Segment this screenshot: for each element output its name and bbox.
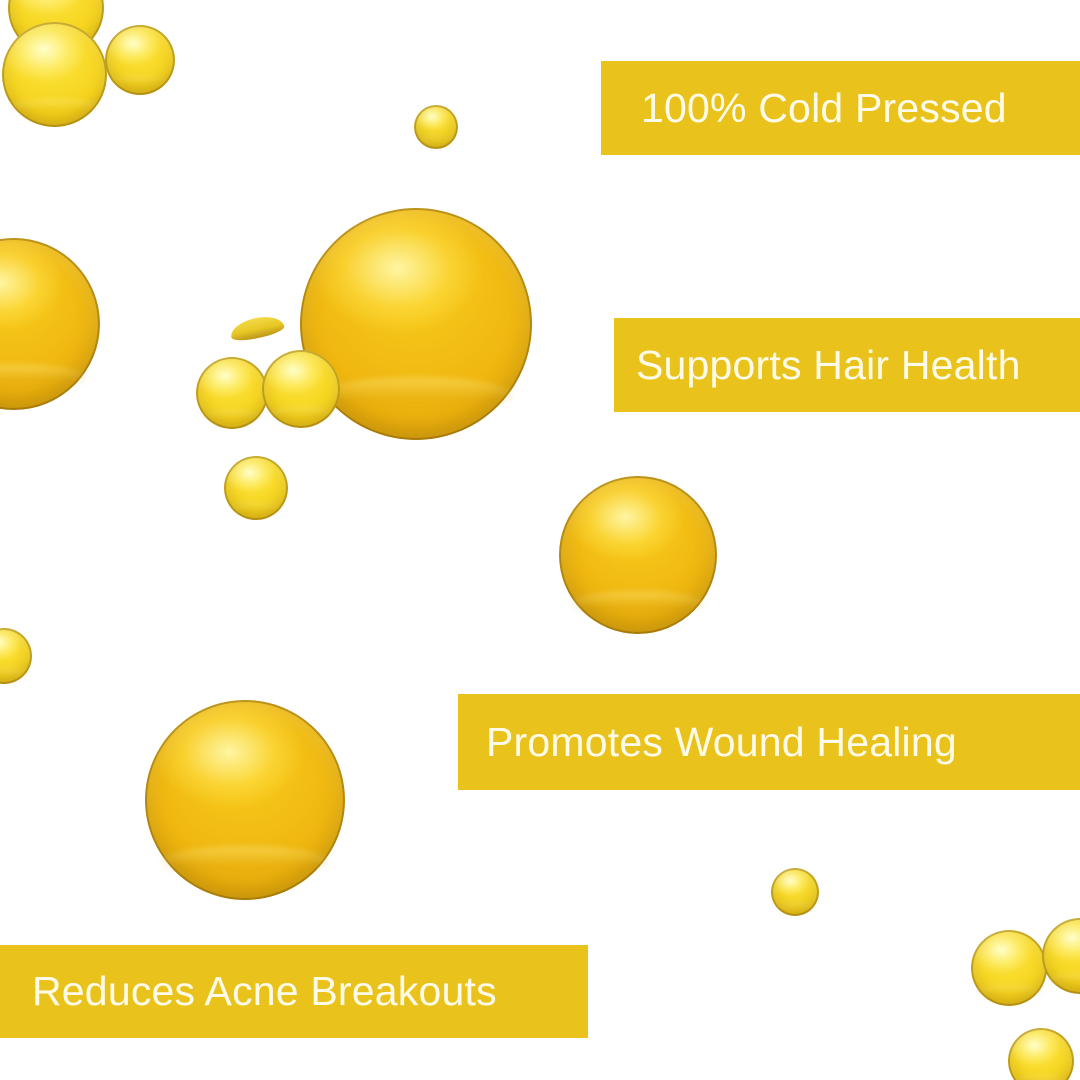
droplet-cluster-a (196, 357, 268, 429)
droplet-cluster-c (224, 456, 288, 520)
droplet-top-tiny (414, 105, 458, 149)
droplet-left-large (0, 238, 100, 410)
droplet-bottom-tiny (771, 868, 819, 916)
banner-acne-label: Reduces Acne Breakouts (32, 971, 497, 1012)
droplet-left-edge-tiny (0, 628, 32, 684)
banner-wound-healing: Promotes Wound Healing (458, 694, 1080, 790)
droplet-top-small (105, 25, 175, 95)
poster-canvas: 100% Cold Pressed Supports Hair Health P… (0, 0, 1080, 1080)
banner-hair-health-label: Supports Hair Health (636, 345, 1021, 386)
droplet-lower-large (145, 700, 345, 900)
banner-cold-pressed: 100% Cold Pressed (601, 61, 1080, 155)
droplet-mid-right (559, 476, 717, 634)
droplet-br-left (971, 930, 1047, 1006)
banner-acne: Reduces Acne Breakouts (0, 945, 588, 1038)
droplet-br-right (1042, 918, 1080, 994)
banner-cold-pressed-label: 100% Cold Pressed (641, 88, 1007, 129)
droplet-br-bottom (1008, 1028, 1074, 1080)
banner-wound-healing-label: Promotes Wound Healing (486, 722, 957, 763)
droplet-topleft-lower (2, 22, 107, 127)
droplet-cluster-b (262, 350, 340, 428)
oil-fleck (229, 313, 286, 344)
banner-hair-health: Supports Hair Health (614, 318, 1080, 412)
